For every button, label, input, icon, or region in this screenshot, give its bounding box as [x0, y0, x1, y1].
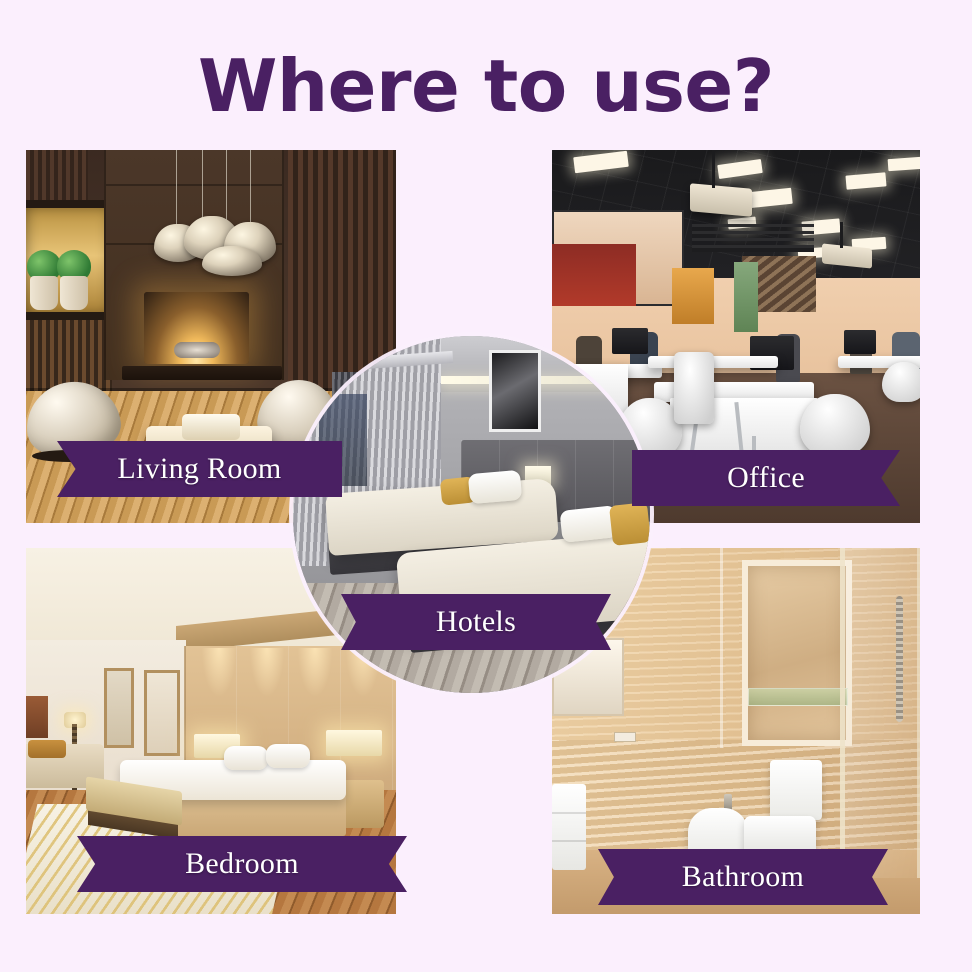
label-ribbon-bathroom[interactable]: Bathroom — [598, 849, 888, 905]
wooden-door — [672, 268, 714, 324]
fireplace-stones — [174, 342, 220, 358]
ac-mount-rod — [712, 150, 715, 188]
ceiling-light-panel — [888, 157, 920, 171]
wall-artwork — [26, 696, 48, 738]
ac-mount-rod — [840, 222, 843, 248]
potted-plant-icon — [30, 238, 60, 310]
bathroom-mirror — [742, 560, 852, 746]
vanity-drawer-line — [552, 812, 586, 814]
computer-monitor — [844, 330, 876, 354]
ceiling-spotlight — [250, 648, 284, 696]
label-ribbon-living-room[interactable]: Living Room — [57, 441, 342, 497]
bedroom-door — [144, 670, 180, 756]
label-ribbon-bedroom[interactable]: Bedroom — [77, 836, 407, 892]
pendant-wire — [250, 150, 251, 224]
bed-pillow — [224, 746, 268, 770]
accent-pillow — [609, 502, 650, 546]
office-chair — [674, 352, 714, 424]
wall-corner — [720, 548, 723, 748]
toilet-cistern — [770, 760, 822, 820]
pendant-lamp-icon — [202, 246, 262, 276]
coffee-table-top — [182, 414, 240, 440]
office-chair — [800, 394, 870, 456]
bedside-lamp-icon — [326, 730, 382, 756]
fireplace-hearth — [122, 366, 282, 380]
niche-top-trim — [26, 200, 114, 208]
vanity-unit — [552, 784, 586, 870]
potted-plant-icon — [60, 230, 94, 310]
bed-pillow — [266, 744, 310, 768]
office-chair — [882, 362, 920, 402]
green-divider-panel — [734, 262, 758, 332]
framed-artwork — [489, 350, 541, 432]
cove-lighting — [441, 376, 650, 384]
light-switch — [614, 732, 636, 742]
mezzanine-railing — [692, 220, 814, 252]
vanity-drawer-line — [552, 840, 586, 842]
label-ribbon-office[interactable]: Office — [632, 450, 900, 506]
sofa-cushion — [28, 740, 66, 758]
glass-shower-enclosure — [840, 548, 920, 878]
wall-mirror — [104, 668, 134, 748]
shower-hose — [896, 596, 903, 722]
label-ribbon-hotels[interactable]: Hotels — [341, 594, 611, 650]
red-wall-panel — [552, 244, 636, 306]
glass-shelf — [748, 688, 848, 706]
poster-root: Where to use? — [0, 0, 972, 972]
plant-pot — [60, 276, 88, 310]
ceiling-spotlight — [202, 648, 236, 696]
pendant-wire — [202, 150, 203, 220]
niche-shelf — [26, 312, 114, 320]
ceiling-ac-unit — [690, 183, 752, 216]
pendant-wire — [176, 150, 177, 230]
plant-pot — [30, 276, 58, 310]
page-title: Where to use? — [0, 44, 972, 128]
bed-pillow — [468, 470, 522, 504]
